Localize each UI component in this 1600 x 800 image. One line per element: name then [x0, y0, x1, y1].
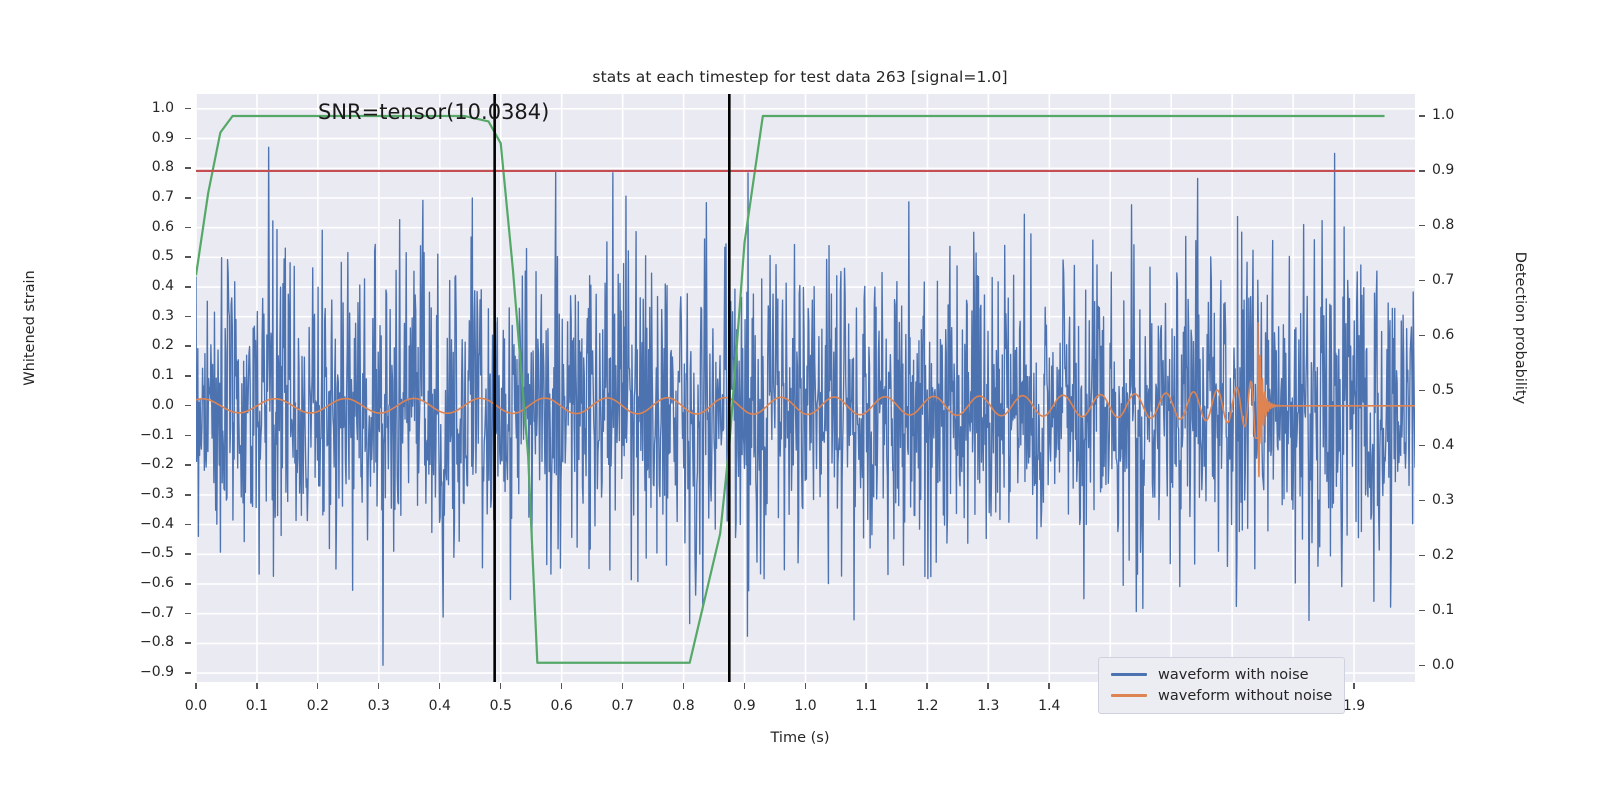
axis-tick-mark: [926, 683, 928, 689]
legend-label: waveform with noise: [1158, 667, 1309, 683]
axis-tick-mark: [256, 683, 258, 689]
axis-tick-label: 1.4: [1019, 698, 1079, 714]
x-axis-label: Time (s): [0, 730, 1600, 746]
axis-tick-mark: [317, 683, 319, 689]
axis-tick-mark: [185, 316, 191, 318]
axis-tick-label: 0.9: [110, 130, 174, 146]
legend-swatch-noise: [1111, 673, 1147, 675]
axis-tick-label: 0.9: [1432, 162, 1492, 178]
axis-tick-mark: [1419, 115, 1425, 117]
axis-tick-mark: [185, 464, 191, 466]
legend-label: waveform without noise: [1158, 688, 1332, 704]
axis-tick-label: 0.0: [166, 698, 226, 714]
axis-tick-mark: [185, 494, 191, 496]
axis-tick-mark: [185, 613, 191, 615]
axis-tick-mark: [1419, 610, 1425, 612]
axis-tick-label: −0.8: [110, 634, 174, 650]
axis-tick-label: −0.5: [110, 545, 174, 561]
axis-tick-mark: [683, 683, 685, 689]
axis-tick-label: 1.1: [836, 698, 896, 714]
chart-title: stats at each timestep for test data 263…: [0, 68, 1600, 86]
axis-tick-mark: [185, 583, 191, 585]
axis-tick-label: −0.7: [110, 605, 174, 621]
axis-tick-label: 0.6: [1432, 327, 1492, 343]
axis-tick-mark: [1353, 683, 1355, 689]
axis-tick-label: 0.4: [1432, 437, 1492, 453]
axis-tick-mark: [185, 553, 191, 555]
axis-tick-mark: [1419, 555, 1425, 557]
axis-tick-mark: [185, 108, 191, 110]
axis-tick-mark: [185, 642, 191, 644]
legend-item: waveform with noise: [1111, 664, 1332, 685]
axis-tick-mark: [500, 683, 502, 689]
axis-tick-label: 1.0: [1432, 107, 1492, 123]
snr-annotation: SNR=tensor(10.0384): [318, 100, 549, 124]
axis-tick-mark: [1419, 225, 1425, 227]
axis-tick-mark: [1419, 500, 1425, 502]
axis-tick-mark: [987, 683, 989, 689]
axis-tick-label: 0.6: [532, 698, 592, 714]
axis-tick-label: 0.2: [288, 698, 348, 714]
legend-swatch-clean: [1111, 694, 1147, 696]
axis-tick-label: 0.8: [110, 159, 174, 175]
axis-tick-mark: [561, 683, 563, 689]
y-axis-label-right: Detection probability: [1512, 228, 1528, 428]
chart-legend: waveform with noise waveform without noi…: [1098, 657, 1345, 714]
axis-tick-label: −0.4: [110, 516, 174, 532]
y-axis-label-left: Whitened strain: [22, 228, 38, 428]
axis-tick-label: 0.9: [715, 698, 775, 714]
legend-item: waveform without noise: [1111, 685, 1332, 706]
axis-tick-label: 0.1: [227, 698, 287, 714]
axis-tick-mark: [1419, 665, 1425, 667]
axis-tick-label: 0.4: [110, 278, 174, 294]
axis-tick-mark: [185, 256, 191, 258]
axis-tick-label: 1.0: [110, 100, 174, 116]
axis-tick-label: 0.0: [1432, 657, 1492, 673]
axis-tick-mark: [195, 683, 197, 689]
axis-tick-mark: [185, 286, 191, 288]
axis-tick-mark: [1048, 683, 1050, 689]
axis-tick-mark: [185, 524, 191, 526]
axis-tick-label: 1.3: [958, 698, 1018, 714]
axis-tick-label: 0.1: [110, 367, 174, 383]
axis-tick-label: 0.4: [410, 698, 470, 714]
axis-tick-label: −0.2: [110, 456, 174, 472]
axis-tick-label: 0.5: [471, 698, 531, 714]
axis-tick-mark: [185, 167, 191, 169]
axis-tick-label: 0.3: [349, 698, 409, 714]
axis-tick-mark: [622, 683, 624, 689]
axis-tick-mark: [185, 435, 191, 437]
axis-tick-label: −0.6: [110, 575, 174, 591]
axis-tick-label: −0.9: [110, 664, 174, 680]
axis-tick-mark: [1419, 170, 1425, 172]
axis-tick-label: 1.2: [897, 698, 957, 714]
axis-tick-label: 0.6: [110, 219, 174, 235]
axis-tick-label: 0.2: [110, 337, 174, 353]
axis-tick-mark: [1419, 280, 1425, 282]
axis-tick-mark: [185, 345, 191, 347]
axis-tick-label: 0.7: [110, 189, 174, 205]
chart-figure: stats at each timestep for test data 263…: [0, 0, 1600, 800]
axis-tick-mark: [185, 405, 191, 407]
axis-tick-label: 0.7: [593, 698, 653, 714]
axis-tick-label: 0.8: [1432, 217, 1492, 233]
axis-tick-label: 1.0: [776, 698, 836, 714]
axis-tick-mark: [185, 227, 191, 229]
axis-tick-mark: [378, 683, 380, 689]
axis-tick-mark: [185, 138, 191, 140]
axis-tick-mark: [1419, 390, 1425, 392]
axis-tick-label: 0.1: [1432, 602, 1492, 618]
axis-tick-label: −0.1: [110, 427, 174, 443]
axis-tick-mark: [744, 683, 746, 689]
axis-tick-label: 0.5: [1432, 382, 1492, 398]
axis-tick-label: 0.5: [110, 248, 174, 264]
axis-tick-label: 0.2: [1432, 547, 1492, 563]
axis-tick-label: 0.3: [110, 308, 174, 324]
axis-tick-label: 0.7: [1432, 272, 1492, 288]
axis-tick-mark: [185, 672, 191, 674]
axis-tick-mark: [185, 375, 191, 377]
plot-area: [196, 94, 1415, 682]
axis-tick-mark: [439, 683, 441, 689]
axis-tick-mark: [865, 683, 867, 689]
axis-tick-mark: [1419, 445, 1425, 447]
axis-tick-label: 0.0: [110, 397, 174, 413]
axis-tick-mark: [805, 683, 807, 689]
plot-canvas: [196, 94, 1415, 682]
axis-tick-mark: [185, 197, 191, 199]
axis-tick-mark: [1419, 335, 1425, 337]
axis-tick-label: 0.8: [654, 698, 714, 714]
axis-tick-label: −0.3: [110, 486, 174, 502]
axis-tick-label: 0.3: [1432, 492, 1492, 508]
